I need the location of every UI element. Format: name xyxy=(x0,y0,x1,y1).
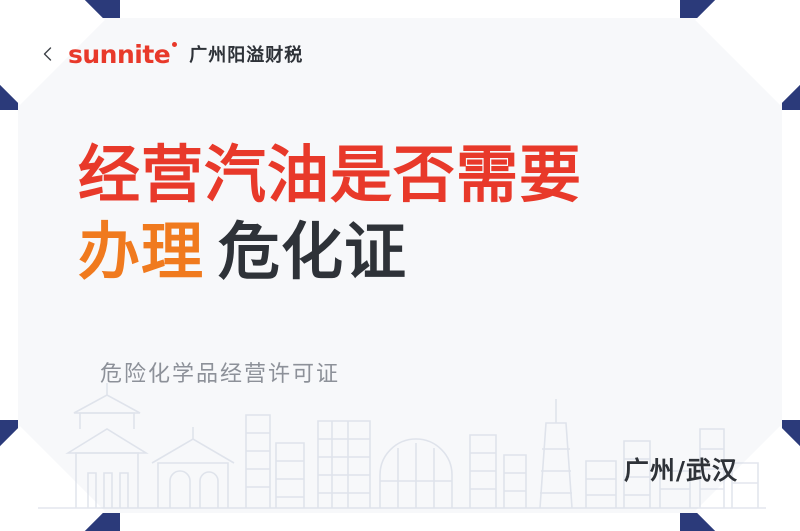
sunnite-logo: sunnite xyxy=(68,42,175,67)
title-line-1: 经营汽油是否需要 xyxy=(78,140,582,209)
title-accent-text: 办理 xyxy=(78,215,204,288)
brand-name: 广州阳溢财税 xyxy=(189,41,303,67)
title-line-2: 办理危化证 xyxy=(78,217,582,286)
frame-gap-right xyxy=(782,110,800,420)
chevron-left-icon[interactable] xyxy=(40,46,56,62)
title-block: 经营汽油是否需要 办理危化证 xyxy=(78,140,582,287)
poster-canvas: sunnite 广州阳溢财税 经营汽油是否需要 办理危化证 危险化学品经营许可证… xyxy=(0,0,800,531)
frame-gap-left xyxy=(0,110,18,420)
city-tag: 广州/武汉 xyxy=(624,451,738,487)
subtitle: 危险化学品经营许可证 xyxy=(100,356,340,388)
title-dark-text: 危化证 xyxy=(218,215,407,288)
poster-header: sunnite 广州阳溢财税 xyxy=(18,18,782,90)
frame-gap-top xyxy=(120,0,680,18)
frame-gap-bottom xyxy=(120,513,680,531)
logo-dot-icon xyxy=(172,42,177,47)
logo-wordmark: sunnite xyxy=(68,42,170,67)
